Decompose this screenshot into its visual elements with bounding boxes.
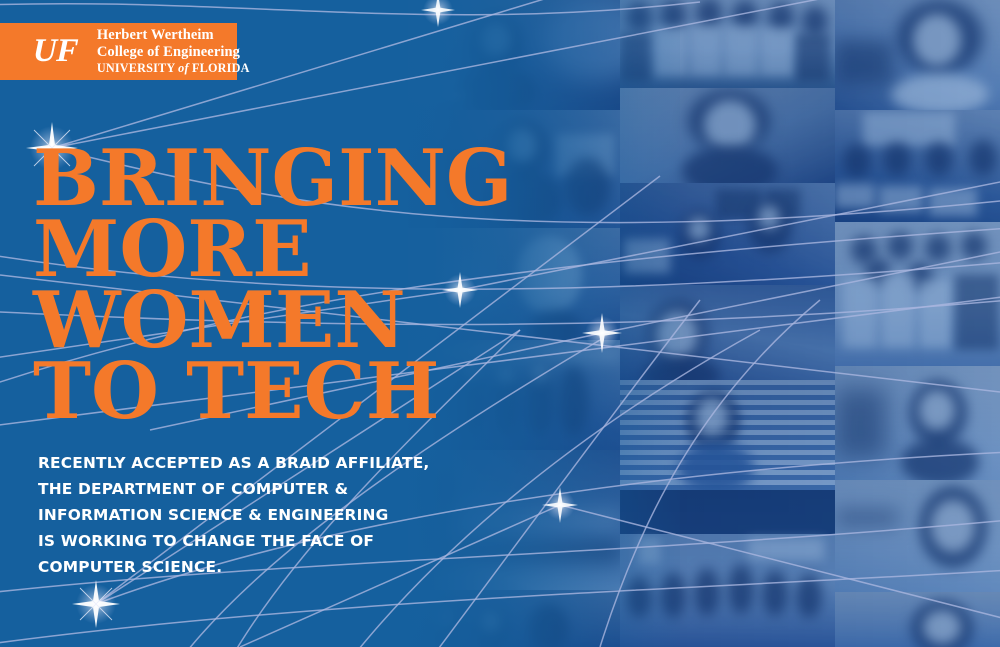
photo-tile xyxy=(835,0,1000,110)
body-line-2: THE DEPARTMENT OF COMPUTER & xyxy=(38,476,429,502)
body-copy: RECENTLY ACCEPTED AS A BRAID AFFILIATE, … xyxy=(38,450,429,580)
logo-line-3: UNIVERSITY of FLORIDA xyxy=(97,61,250,76)
body-line-5: COMPUTER SCIENCE. xyxy=(38,554,429,580)
photo-tile xyxy=(620,88,835,183)
photo-tile xyxy=(408,0,620,110)
photo-tile xyxy=(620,285,835,380)
right-photo-column xyxy=(835,0,1000,647)
photo-tile xyxy=(835,480,1000,592)
logo-florida-text: FLORIDA xyxy=(189,61,250,75)
logo-wordmark: Herbert Wertheim College of Engineering … xyxy=(97,27,250,76)
photo-tile xyxy=(620,380,835,490)
photo-tile xyxy=(620,183,835,285)
logo-university-text: UNIVERSITY xyxy=(97,61,178,75)
logo-of-text: of xyxy=(178,61,189,75)
photo-tile xyxy=(408,450,620,590)
headline: BRINGING MORE WOMEN TO TECH xyxy=(33,143,513,427)
photo-tile xyxy=(835,222,1000,366)
photo-tile xyxy=(835,110,1000,222)
uf-logo-block[interactable]: UF Herbert Wertheim College of Engineeri… xyxy=(0,23,237,80)
photo-tile xyxy=(408,590,620,647)
photo-tile xyxy=(620,0,835,88)
logo-line-2: College of Engineering xyxy=(97,44,250,61)
photo-tile xyxy=(835,592,1000,647)
photo-tile xyxy=(835,366,1000,480)
center-photo-column xyxy=(620,0,835,647)
body-line-4: IS WORKING TO CHANGE THE FACE OF xyxy=(38,528,429,554)
photo-tile xyxy=(620,490,835,647)
headline-line-4: TO TECH xyxy=(33,356,513,427)
poster-canvas: UF Herbert Wertheim College of Engineeri… xyxy=(0,0,1000,647)
body-line-1: RECENTLY ACCEPTED AS A BRAID AFFILIATE, xyxy=(38,450,429,476)
body-line-3: INFORMATION SCIENCE & ENGINEERING xyxy=(38,502,429,528)
uf-monogram: UF xyxy=(32,35,78,68)
logo-line-1: Herbert Wertheim xyxy=(97,27,250,44)
